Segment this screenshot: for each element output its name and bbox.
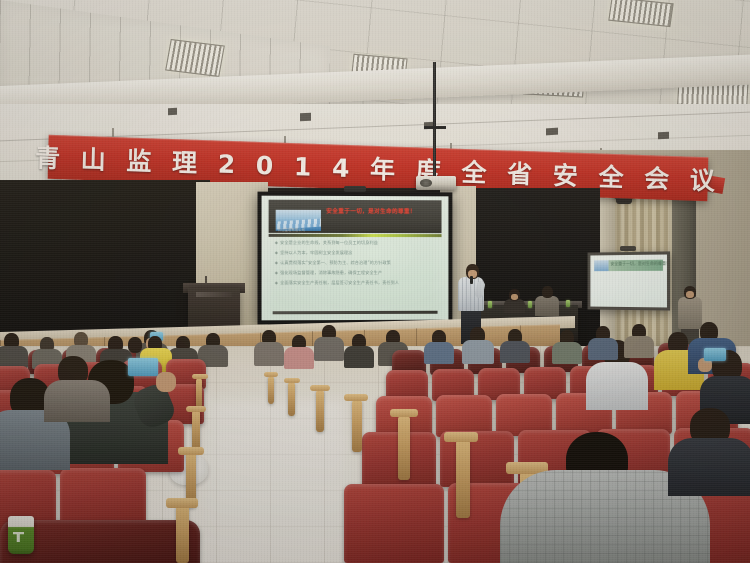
ceiling-projector — [416, 176, 456, 190]
slide-bullet: ◆全面落实安全生产责任制，层层签订安全生产责任书，责任到人 — [275, 281, 439, 286]
aisle-floor-reflection — [206, 400, 346, 563]
standing-person-torso — [678, 297, 702, 329]
seat-armrest-post — [316, 390, 324, 432]
seat-armrest-post — [352, 400, 362, 452]
seat-armrest-post — [456, 440, 470, 518]
seat-armrest-top — [310, 385, 330, 391]
ceiling-speaker — [658, 132, 669, 140]
seat-armrest-top — [166, 498, 198, 508]
seat-armrest-top — [344, 394, 368, 401]
lectern-front-panel — [196, 292, 232, 297]
slide-bullet: ◆强化现场监督管理，消除事故隐患，确保工程安全生产 — [275, 271, 439, 276]
seat-armrest-post — [196, 378, 202, 408]
seated-person-head — [542, 286, 553, 298]
slide-accent-rule — [269, 234, 441, 237]
secondary-slide-logo — [594, 260, 609, 270]
ceiling-speaker — [168, 108, 177, 115]
presentation-slide: 安全重于一切，是对生命的尊重！ 青山监理有限公司 ◆安全是企业的生命线，关系到每… — [262, 196, 449, 321]
smartphone — [704, 348, 726, 361]
slide-header-bar: 安全重于一切，是对生命的尊重！ 青山监理有限公司 — [269, 199, 441, 233]
projector-bracket — [424, 126, 446, 129]
seat[interactable] — [344, 484, 444, 563]
seated-person-face — [511, 294, 518, 300]
seat-armrest-top — [390, 409, 418, 417]
standing-person-face — [686, 291, 694, 298]
seat-armrest-top — [284, 378, 300, 383]
ceiling-speaker — [546, 128, 558, 136]
seat-armrest-post — [268, 376, 274, 404]
seat-armrest-post — [288, 382, 295, 416]
slide-logo-caption: 青山监理有限公司 — [278, 227, 305, 232]
slide-title: 安全重于一切，是对生命的尊重！ — [321, 200, 421, 217]
seated-person-torso — [535, 296, 559, 316]
slide-bullet-list: ◆安全是企业的生命线，关系到每一位员工的切身利益 ◆坚持以人为本，牢固树立安全发… — [275, 241, 439, 292]
projector-mount-pole — [433, 62, 436, 180]
seat-armrest-post — [192, 410, 200, 452]
smartphone — [128, 358, 158, 376]
drink-bottle — [488, 301, 492, 308]
secondary-display[interactable]: 安全重于一切，是对生命的尊重！ — [588, 251, 670, 310]
seat-armrest-top — [444, 432, 478, 442]
seat-armrest-top — [192, 374, 208, 379]
secondary-screen-mount — [620, 246, 636, 251]
secondary-slide: 安全重于一切，是对生命的尊重！ — [590, 255, 667, 308]
slide-footer-bar — [273, 311, 437, 315]
drink-bottle — [566, 300, 570, 307]
secondary-slide-title: 安全重于一切，是对生命的尊重！ — [611, 261, 667, 268]
conference-hall-photo: 青 山 监 理 2 0 1 4 年 度 全 省 安 全 会 议 安全重于一切，是… — [0, 0, 750, 563]
handheld-microphone — [470, 276, 473, 284]
seat-armrest-top — [264, 372, 278, 377]
seated-person-torso — [504, 299, 525, 313]
slide-bullet: ◆认真贯彻落实“安全第一、预防为主、综合治理”的方针政策 — [275, 261, 439, 266]
ceiling-light-fixture — [165, 39, 225, 77]
seat-armrest-post — [176, 505, 189, 563]
seat-armrest-post — [398, 416, 410, 480]
slide-bullet: ◆安全是企业的生命线，关系到每一位员工的切身利益 — [275, 241, 439, 246]
slide-bullet: ◆坚持以人为本，牢固树立安全发展理念 — [275, 251, 439, 256]
drink-bottle — [528, 301, 532, 308]
ceiling-speaker — [300, 113, 311, 122]
drink-cup — [8, 516, 34, 554]
projection-screen[interactable]: 安全重于一切，是对生命的尊重！ 青山监理有限公司 ◆安全是企业的生命线，关系到每… — [258, 192, 453, 325]
seat-armrest-top — [186, 406, 206, 412]
seat-armrest-top — [178, 447, 204, 455]
